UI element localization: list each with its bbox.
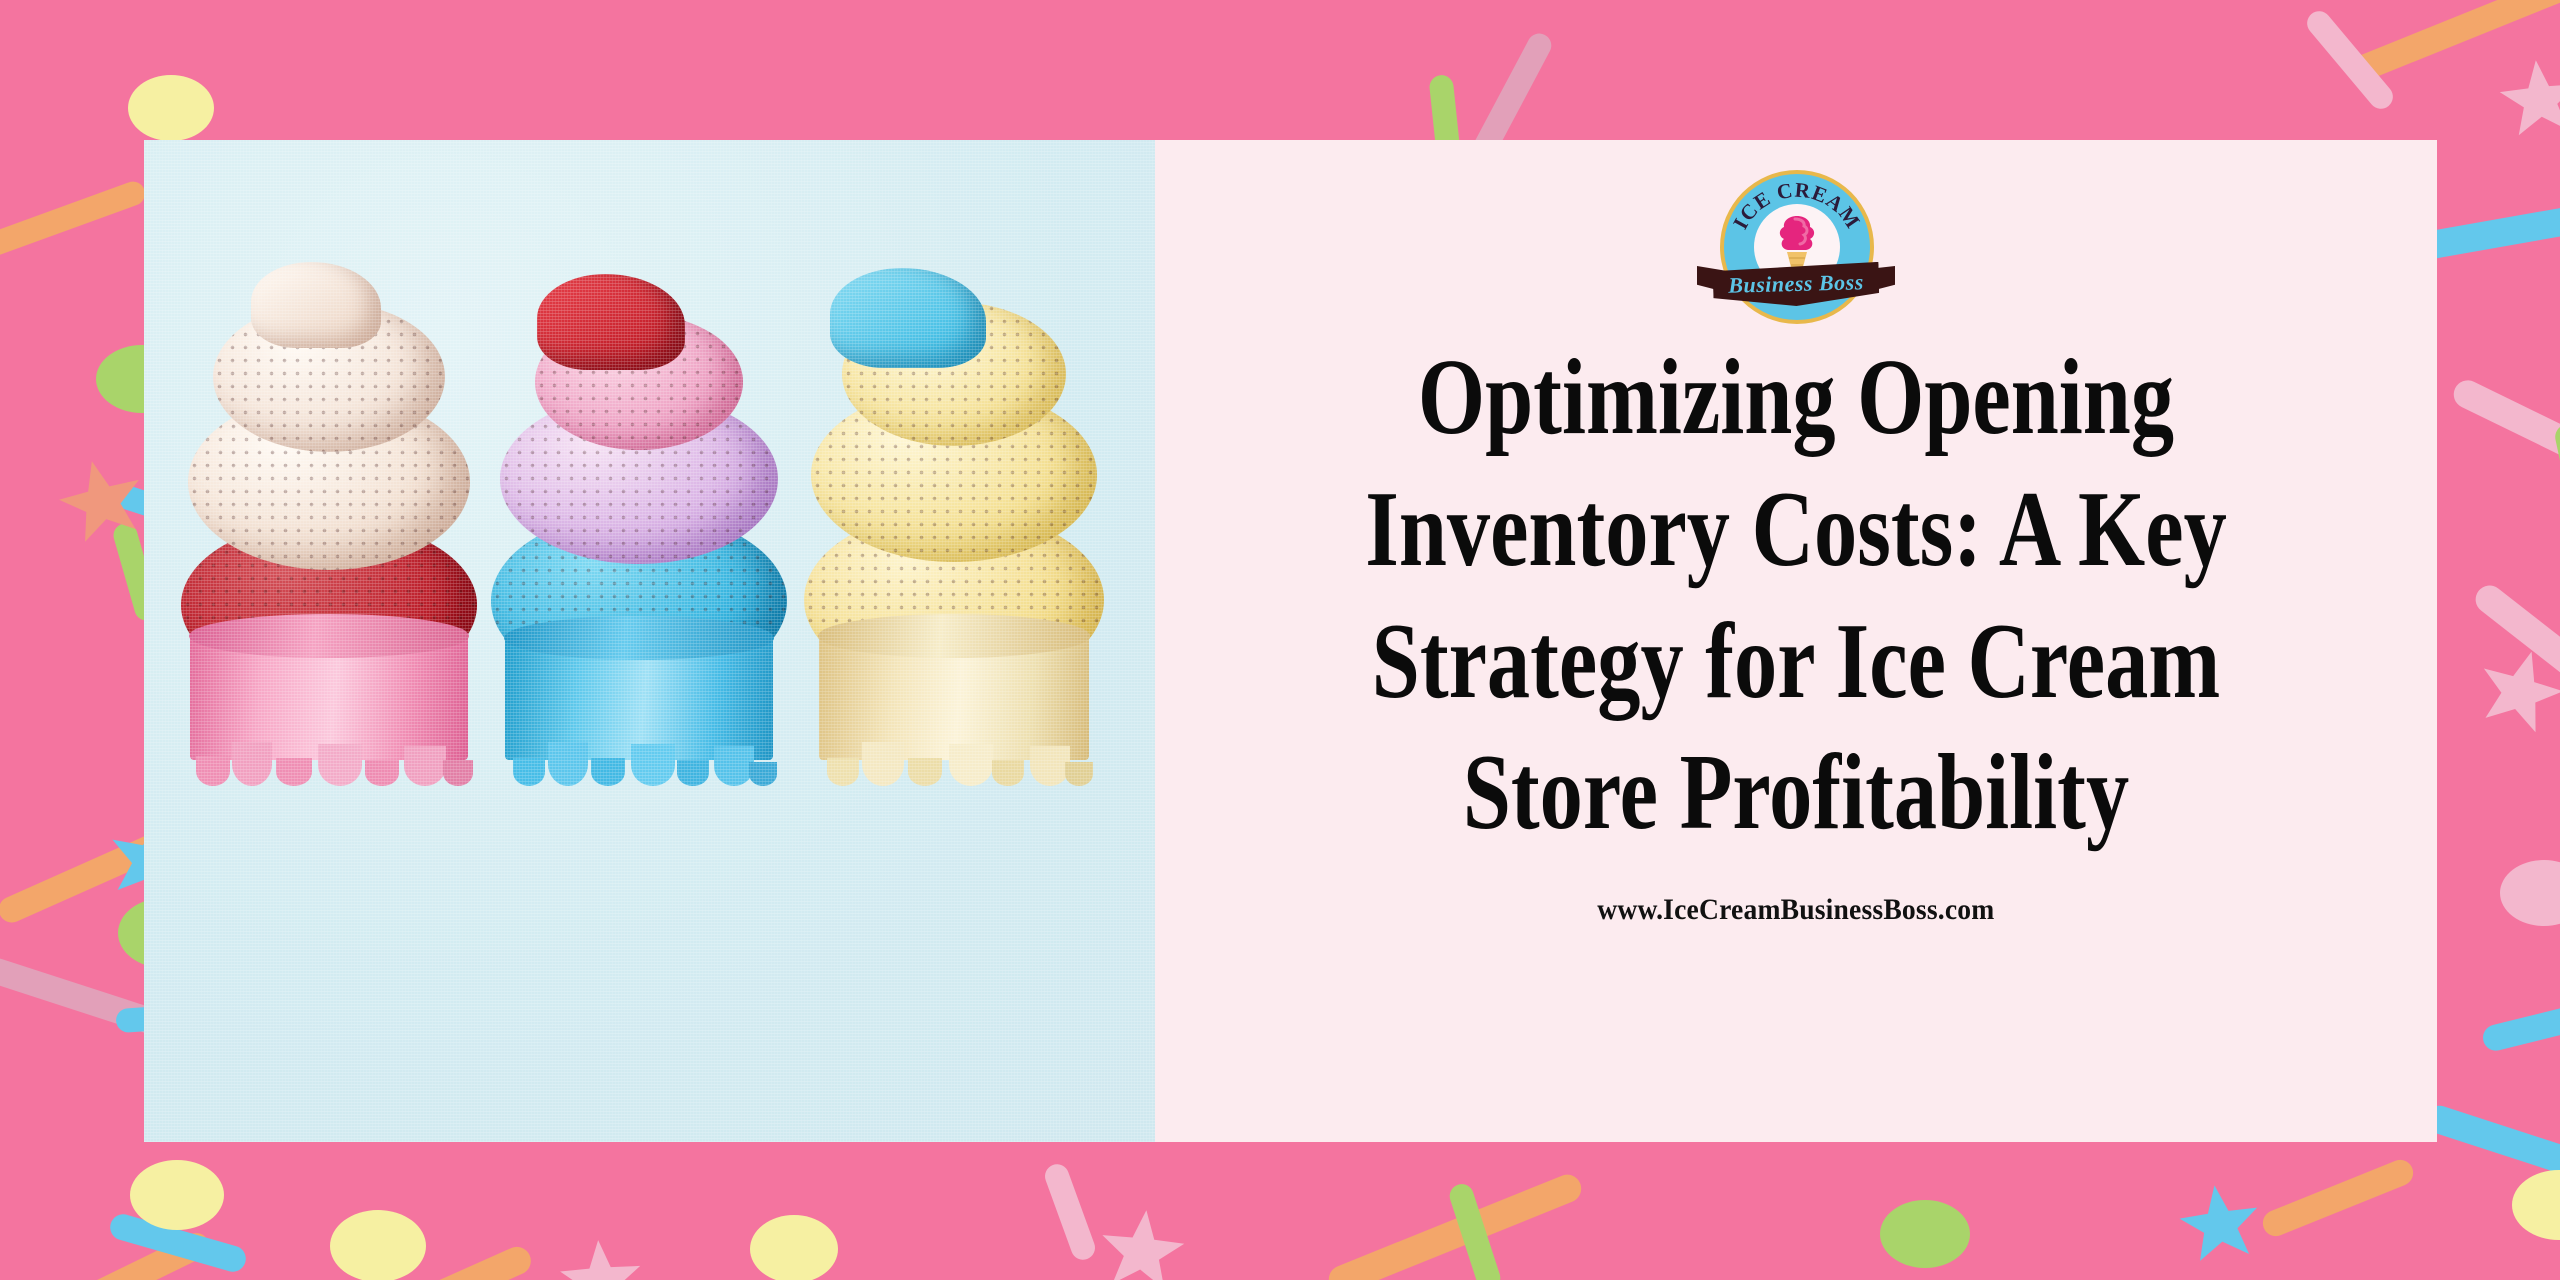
poster-canvas: ICE CREAM Business Boss Optimizing Openi… [0,0,2560,1280]
confetti-dot [2512,1170,2560,1240]
confetti-bar [2259,1156,2417,1240]
text-panel: ICE CREAM Business Boss Optimizing Openi… [1155,140,2437,1142]
photo-grain-overlay [144,140,1155,1142]
confetti-dot [128,75,214,141]
confetti-dot [750,1215,838,1280]
logo-banner-text: Business Boss [1697,268,1896,299]
title-line-2: Inventory Costs: A Key [1320,464,2272,596]
title-line-3: Strategy for Ice Cream [1320,596,2272,728]
website-url[interactable]: www.IceCreamBusinessBoss.com [1597,893,1994,927]
confetti-dot [1880,1200,1970,1268]
confetti-dot [130,1160,224,1230]
confetti-bar [1042,1161,1099,1263]
confetti-bar [2480,973,2560,1054]
confetti-dot [2500,860,2560,926]
logo-banner: Business Boss [1697,260,1895,310]
content-card: ICE CREAM Business Boss Optimizing Openi… [144,140,2437,1142]
confetti-bar [2350,0,2560,84]
title-line-4: Store Profitability [1320,727,2272,859]
confetti-star [1096,1206,1188,1280]
confetti-dot [330,1210,426,1280]
confetti-bar [2449,376,2560,533]
page-title: Optimizing Opening Inventory Costs: A Ke… [1320,332,2272,859]
confetti-star [2496,56,2560,144]
brand-logo[interactable]: ICE CREAM Business Boss [1691,168,1901,318]
ice-cream-photo [144,140,1155,1142]
title-line-1: Optimizing Opening [1320,332,2272,464]
confetti-star [2175,1180,2265,1270]
confetti-star [557,1237,645,1280]
confetti-bar [0,178,148,266]
